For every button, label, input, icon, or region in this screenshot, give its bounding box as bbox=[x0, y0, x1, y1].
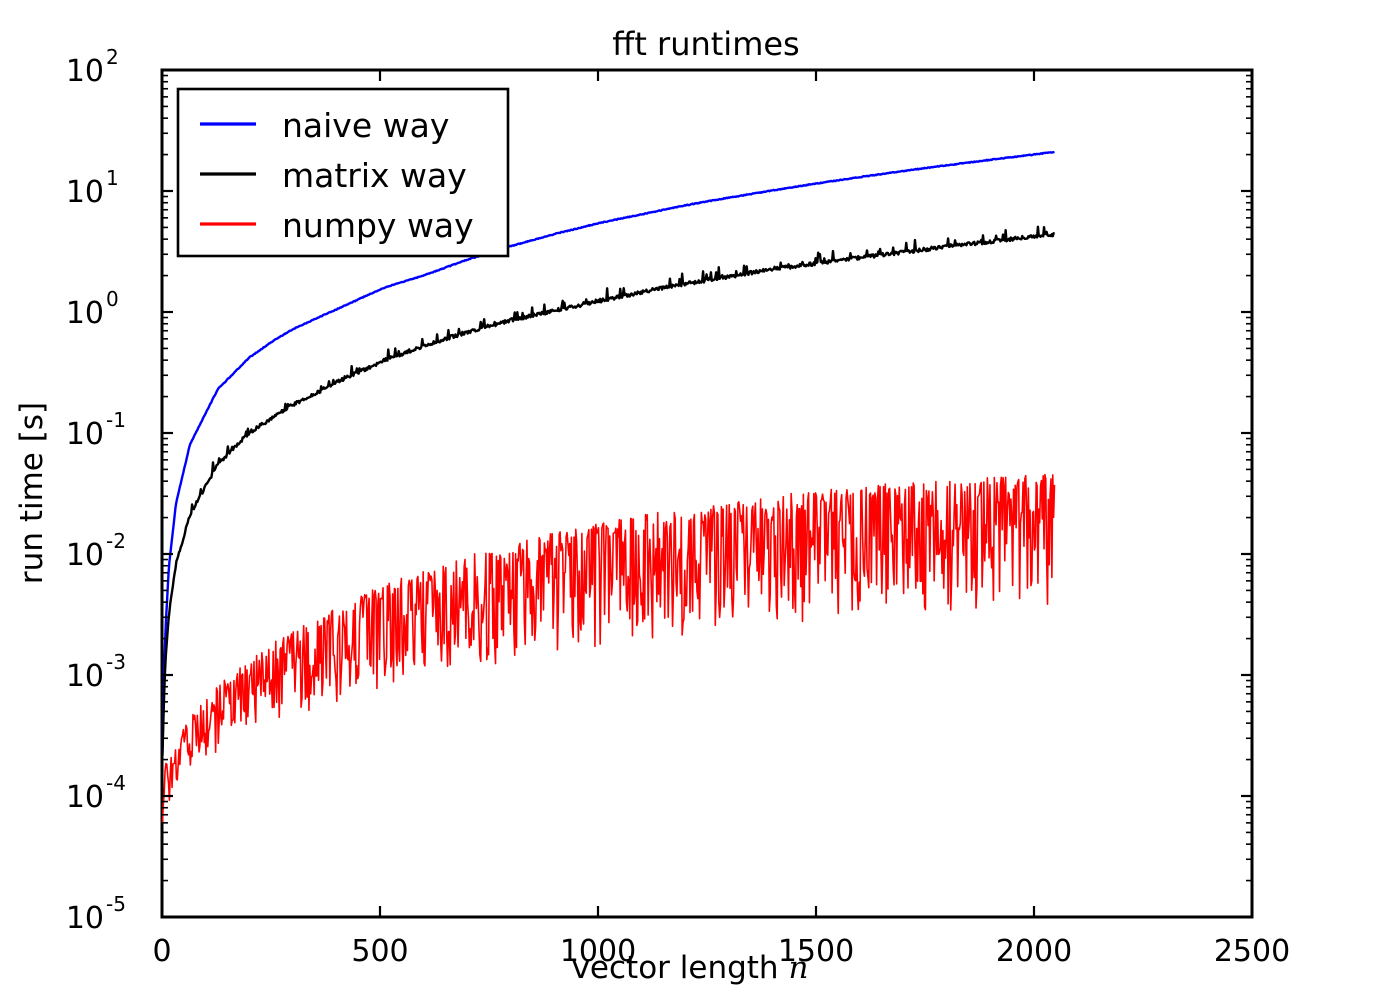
y-tick-label-mantissa: 10 bbox=[66, 901, 104, 936]
y-tick-label-exponent: 2 bbox=[106, 45, 119, 69]
y-tick-label-mantissa: 10 bbox=[66, 417, 104, 452]
chart-title: fft runtimes bbox=[612, 25, 799, 63]
x-tick-label: 2500 bbox=[1214, 934, 1290, 969]
y-tick-label-exponent: -1 bbox=[106, 408, 126, 432]
chart-legend[interactable]: naive waymatrix waynumpy way bbox=[178, 89, 508, 256]
y-tick-label-mantissa: 10 bbox=[66, 296, 104, 331]
y-tick-label-mantissa: 10 bbox=[66, 780, 104, 815]
y-tick-label-exponent: 1 bbox=[106, 166, 119, 190]
y-tick-label-exponent: -3 bbox=[106, 650, 126, 674]
y-tick-label-exponent: 0 bbox=[106, 287, 119, 311]
y-tick-label-mantissa: 10 bbox=[66, 175, 104, 210]
y-tick-label-mantissa: 10 bbox=[66, 54, 104, 89]
legend-label-naive-way: naive way bbox=[282, 106, 449, 145]
figure-canvas: 0500100015002000250010-510-410-310-210-1… bbox=[0, 0, 1376, 995]
y-tick-label-exponent: -2 bbox=[106, 529, 126, 553]
fft-runtimes-chart: 0500100015002000250010-510-410-310-210-1… bbox=[0, 0, 1376, 995]
y-tick-label-mantissa: 10 bbox=[66, 538, 104, 573]
x-axis-label-text: vector length bbox=[572, 950, 789, 986]
y-axis-label: run time [s] bbox=[14, 402, 50, 584]
x-tick-label: 500 bbox=[351, 934, 408, 969]
y-tick-label-exponent: -5 bbox=[106, 892, 126, 916]
y-tick-label-exponent: -4 bbox=[106, 771, 126, 795]
x-axis-label: vector length n bbox=[572, 950, 809, 986]
x-tick-label: 2000 bbox=[996, 934, 1072, 969]
x-axis-label-math: n bbox=[788, 950, 808, 986]
legend-label-numpy-way: numpy way bbox=[282, 206, 474, 245]
x-tick-label: 0 bbox=[152, 934, 171, 969]
legend-label-matrix-way: matrix way bbox=[282, 156, 467, 195]
y-tick-label-mantissa: 10 bbox=[66, 659, 104, 694]
